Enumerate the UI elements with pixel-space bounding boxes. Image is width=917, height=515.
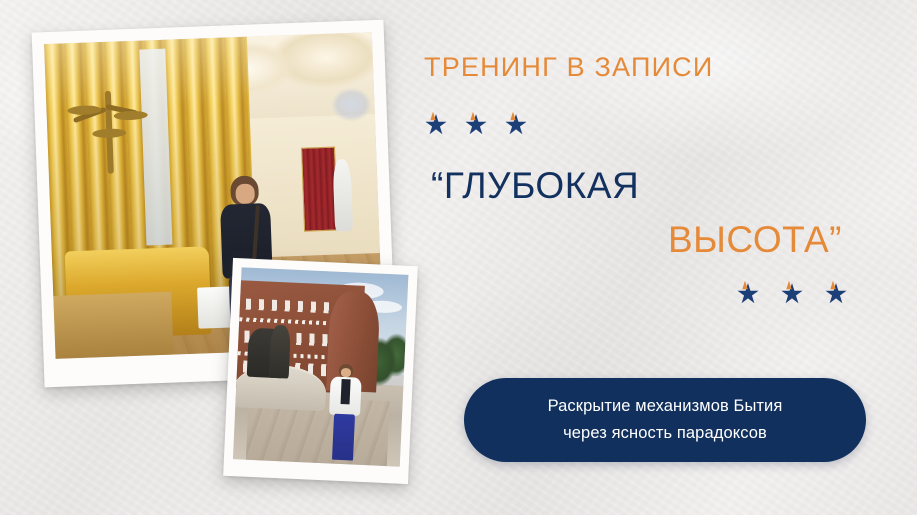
star-icon — [781, 283, 803, 305]
star-icon — [425, 114, 447, 136]
hall-lower-plinth — [53, 292, 173, 359]
hall-candelabra — [65, 78, 154, 188]
star-icon — [825, 283, 847, 305]
brick-palace-photo — [223, 258, 418, 484]
title-line-two: ВЫСОТА” — [668, 219, 842, 261]
star-row-bottom — [737, 283, 847, 305]
brick-palace-photo-image — [233, 267, 409, 466]
star-row-top — [425, 114, 527, 136]
star-icon — [465, 114, 487, 136]
promo-slide: ТРЕНИНГ В ЗАПИСИ “ГЛУБОКАЯ ВЫСОТА” Раскр… — [0, 0, 917, 515]
subtitle-badge: Раскрытие механизмов Бытия через ясность… — [464, 378, 866, 462]
brick-bronze-statue-second — [268, 324, 290, 379]
kicker-text: ТРЕНИНГ В ЗАПИСИ — [424, 52, 713, 83]
subtitle-line-one: Раскрытие механизмов Бытия — [548, 393, 783, 420]
brick-woman-figure — [327, 364, 363, 461]
star-icon — [505, 114, 527, 136]
title-line-one: “ГЛУБОКАЯ — [431, 165, 639, 207]
star-icon — [737, 283, 759, 305]
hall-chandelier — [327, 51, 376, 141]
subtitle-line-two: через ясность парадоксов — [563, 420, 767, 447]
